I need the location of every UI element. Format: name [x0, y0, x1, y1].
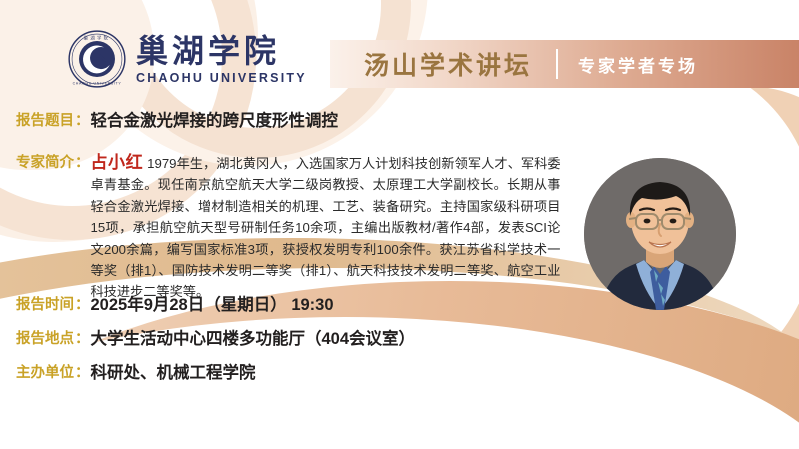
row-report-title: 报告题目 ： 轻合金激光焊接的跨尺度形性调控 — [16, 110, 338, 132]
colon-speaker-bio: ： — [74, 152, 91, 174]
colon-report-place: ： — [74, 328, 91, 350]
poster-canvas: 1977 巢湖学院 CHAOHU UNIVERSITY 巢湖学院 CHAOHU … — [0, 0, 799, 449]
value-report-place: 大学生活动中心四楼多功能厅（404会议室） — [91, 328, 416, 350]
label-report-title: 报告题目 — [16, 110, 74, 132]
svg-text:巢湖学院: 巢湖学院 — [84, 34, 111, 41]
banner-divider — [556, 49, 558, 79]
row-speaker-bio: 专家简介 ： 占小红1979年生，湖北黄冈人，入选国家万人计划科技创新领军人才、… — [16, 152, 576, 303]
value-report-time: 2025年9月28日（星期日） 19:30 — [91, 294, 334, 316]
label-speaker-bio: 专家简介 — [16, 152, 74, 174]
event-banner: 汤山学术讲坛 专家学者专场 — [330, 40, 799, 88]
colon-report-title: ： — [74, 110, 91, 132]
chaohu-university-seal-icon: 1977 巢湖学院 CHAOHU UNIVERSITY — [68, 30, 126, 88]
speaker-bio-body: 占小红1979年生，湖北黄冈人，入选国家万人计划科技创新领军人才、军科委卓青基金… — [91, 152, 561, 303]
row-report-place: 报告地点 ： 大学生活动中心四楼多功能厅（404会议室） — [16, 328, 415, 350]
colon-organizer: ： — [74, 362, 91, 384]
svg-text:1977: 1977 — [94, 64, 101, 68]
university-name-en: CHAOHU UNIVERSITY — [136, 71, 307, 85]
university-brand: 1977 巢湖学院 CHAOHU UNIVERSITY 巢湖学院 CHAOHU … — [68, 30, 307, 88]
university-name-cn: 巢湖学院 — [136, 35, 307, 69]
label-report-place: 报告地点 — [16, 328, 74, 350]
speaker-portrait-illustration — [584, 158, 736, 310]
colon-report-time: ： — [74, 294, 91, 316]
row-organizer: 主办单位 ： 科研处、机械工程学院 — [16, 362, 256, 384]
banner-main-title: 汤山学术讲坛 — [364, 46, 532, 82]
poster-header: 1977 巢湖学院 CHAOHU UNIVERSITY 巢湖学院 CHAOHU … — [0, 0, 799, 104]
banner-subtitle: 专家学者专场 — [578, 52, 698, 77]
value-organizer: 科研处、机械工程学院 — [91, 362, 256, 384]
brand-text-block: 巢湖学院 CHAOHU UNIVERSITY — [136, 35, 307, 85]
svg-text:CHAOHU UNIVERSITY: CHAOHU UNIVERSITY — [73, 82, 122, 86]
row-report-time: 报告时间 ： 2025年9月28日（星期日） 19:30 — [16, 294, 334, 316]
value-report-title: 轻合金激光焊接的跨尺度形性调控 — [91, 110, 339, 132]
label-organizer: 主办单位 — [16, 362, 74, 384]
speaker-name: 占小红 — [91, 153, 144, 172]
speaker-portrait — [584, 158, 736, 310]
speaker-bio-text: 1979年生，湖北黄冈人，入选国家万人计划科技创新领军人才、军科委卓青基金。现任… — [91, 156, 561, 299]
label-report-time: 报告时间 — [16, 294, 74, 316]
